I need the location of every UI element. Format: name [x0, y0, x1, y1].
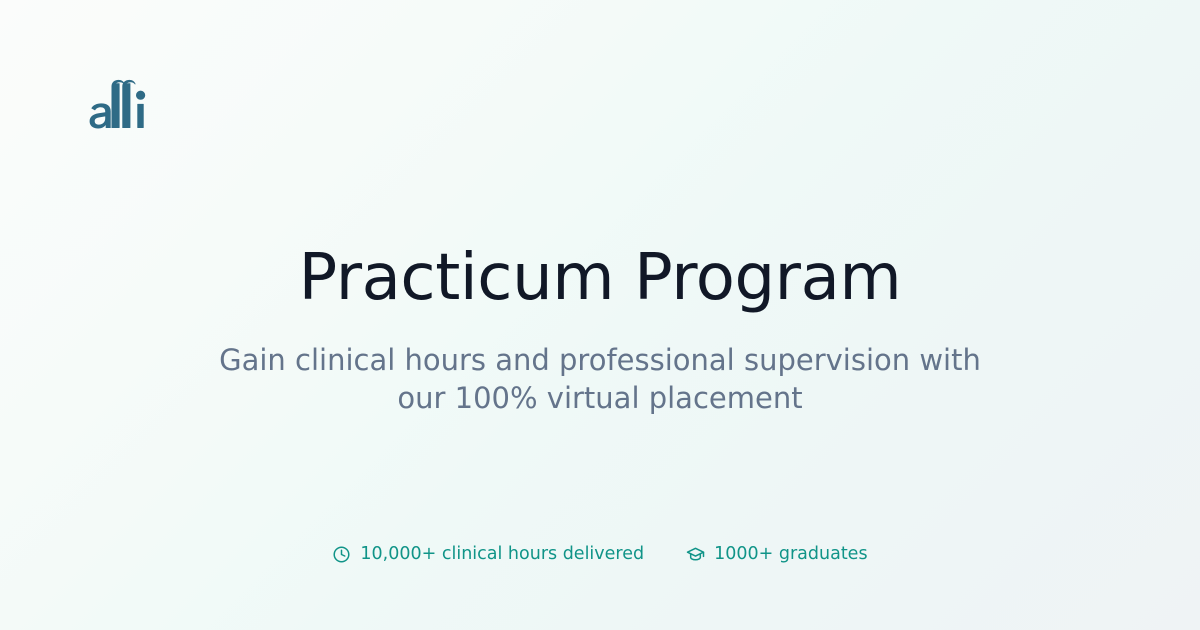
stat-graduates-label: 1000+ graduates: [714, 546, 867, 564]
alli-logo: [88, 70, 158, 132]
stats-row: 10,000+ clinical hours delivered 1000+ g…: [0, 545, 1200, 564]
brand-logo[interactable]: [88, 70, 158, 132]
hero-content: Practicum Program Gain clinical hours an…: [0, 243, 1200, 418]
stat-clinical-hours: 10,000+ clinical hours delivered: [332, 545, 644, 564]
stat-clinical-hours-label: 10,000+ clinical hours delivered: [360, 546, 644, 564]
stat-graduates: 1000+ graduates: [686, 545, 867, 564]
page-title: Practicum Program: [90, 243, 1110, 315]
page-subtitle: Gain clinical hours and professional sup…: [205, 341, 995, 418]
hero-card: Practicum Program Gain clinical hours an…: [0, 0, 1200, 630]
graduation-cap-icon: [686, 545, 705, 564]
clock-icon: [332, 545, 351, 564]
